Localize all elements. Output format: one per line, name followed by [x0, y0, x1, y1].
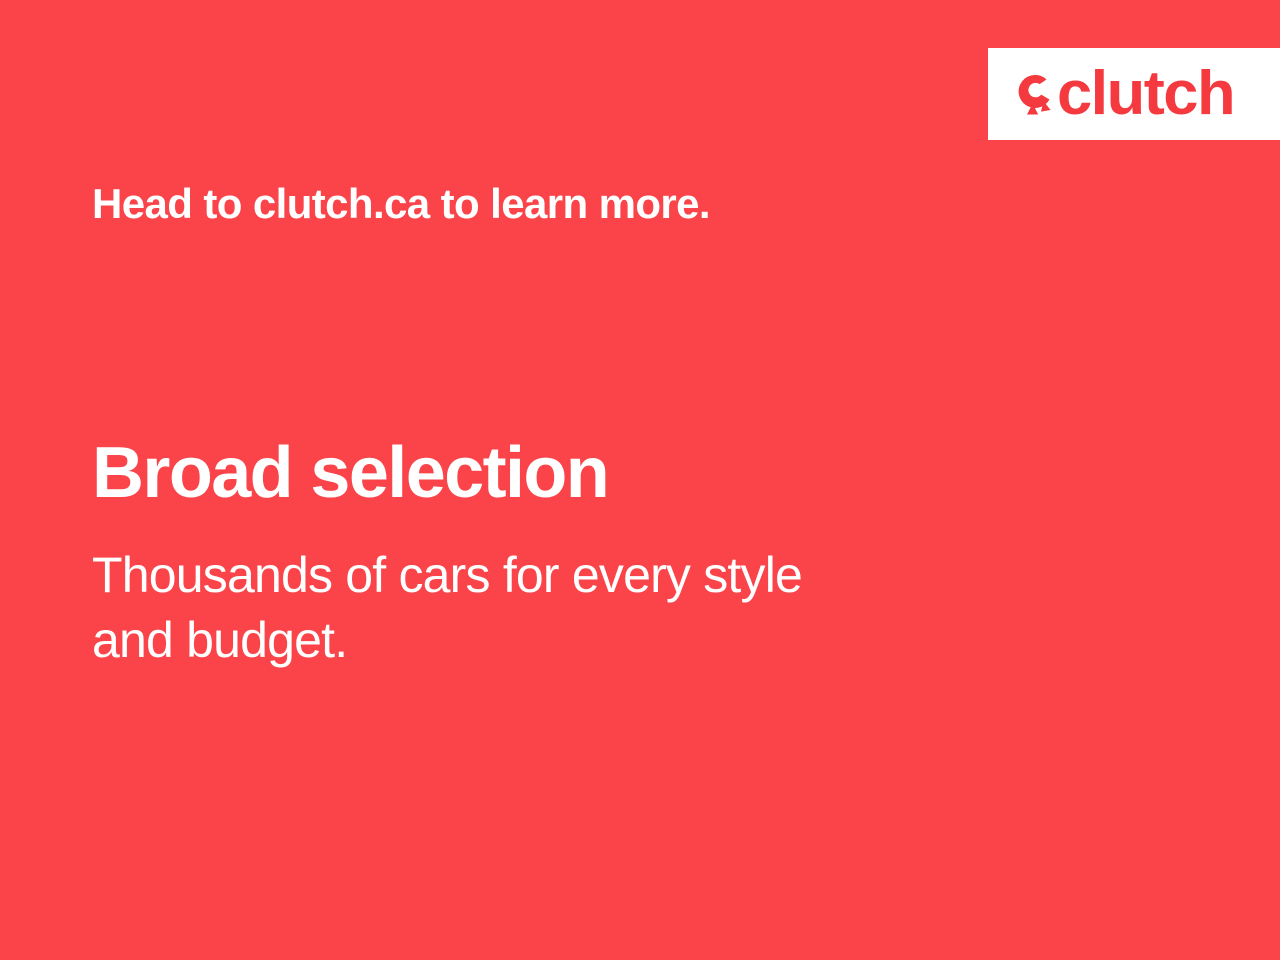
eyebrow-text: Head to clutch.ca to learn more.: [92, 180, 710, 227]
brand-logo-plate: clutch: [988, 48, 1280, 140]
brand-logo-lockup: clutch: [1010, 63, 1231, 125]
page-title: Broad selection: [92, 437, 608, 509]
clutch-c-mark-icon: [1010, 68, 1056, 120]
subheadline-line: Thousands of cars for every style: [92, 543, 1032, 608]
marketing-slide: clutch Head to clutch.ca to learn more. …: [0, 0, 1280, 960]
subheadline-line: and budget.: [92, 608, 1032, 673]
subheadline: Thousands of cars for every style and bu…: [92, 543, 1032, 673]
brand-wordmark: clutch: [1057, 63, 1234, 125]
